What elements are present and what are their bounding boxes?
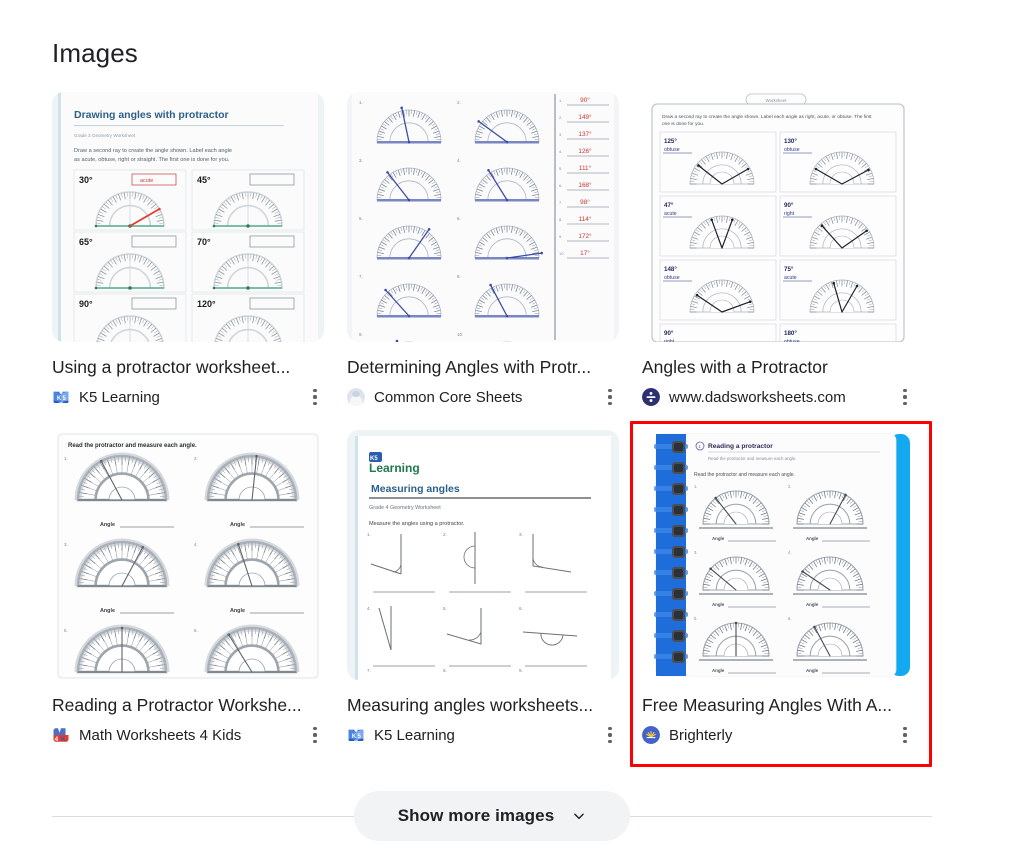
- svg-text:4.: 4.: [457, 158, 461, 163]
- svg-text:168°: 168°: [578, 181, 592, 189]
- svg-text:Angle: Angle: [100, 608, 115, 614]
- image-source-name: Brighterly: [669, 727, 890, 744]
- svg-text:Read the protractor and measur: Read the protractor and measure each ang…: [708, 456, 797, 461]
- more-options-icon[interactable]: [306, 724, 324, 746]
- image-result-card[interactable]: Drawing angles with protractorGrade 3 Ge…: [52, 92, 324, 408]
- svg-text:3.: 3.: [64, 542, 68, 547]
- show-more-label: Show more images: [398, 806, 555, 826]
- svg-text:Grade 3 Geometry Worksheet: Grade 3 Geometry Worksheet: [74, 133, 136, 138]
- image-thumbnail[interactable]: 1. 2. 3. 4. 5. 6. 7. 8. 9. 10. 1.90°2.14…: [347, 92, 619, 342]
- image-source-row: www.dadsworksheets.com: [642, 386, 914, 408]
- svg-text:Angle: Angle: [100, 522, 115, 528]
- svg-text:5.: 5.: [694, 616, 698, 621]
- svg-text:4: 4: [55, 736, 59, 743]
- svg-text:47°: 47°: [664, 202, 674, 209]
- svg-text:7.: 7.: [359, 274, 363, 279]
- dads-worksheets-divide-icon: [642, 388, 660, 406]
- image-result-card[interactable]: Read the protractor and measure each ang…: [52, 430, 324, 746]
- svg-text:4.: 4.: [367, 606, 371, 611]
- svg-text:70°: 70°: [197, 237, 211, 247]
- svg-text:90°: 90°: [664, 330, 674, 337]
- svg-text:2.: 2.: [194, 456, 198, 461]
- image-source-name: Common Core Sheets: [374, 389, 595, 406]
- svg-text:98°: 98°: [580, 198, 590, 206]
- image-source-name: Math Worksheets 4 Kids: [79, 727, 300, 744]
- image-thumbnail[interactable]: WorksheetDraw a second ray to create the…: [642, 92, 914, 342]
- svg-text:2.: 2.: [559, 115, 562, 120]
- svg-text:90°: 90°: [79, 299, 93, 309]
- svg-text:180°: 180°: [784, 330, 797, 337]
- svg-text:149°: 149°: [578, 113, 592, 121]
- image-source-row: K 5 K5 Learning: [347, 724, 619, 746]
- image-source-name: www.dadsworksheets.com: [669, 389, 890, 406]
- image-results-grid: Drawing angles with protractorGrade 3 Ge…: [52, 92, 932, 746]
- svg-text:2.: 2.: [788, 484, 792, 489]
- svg-text:30°: 30°: [79, 175, 93, 185]
- svg-text:Draw a second ray to create th: Draw a second ray to create the angle sh…: [662, 114, 872, 120]
- svg-text:Angle: Angle: [712, 668, 725, 673]
- svg-text:3.: 3.: [359, 158, 363, 163]
- svg-text:90°: 90°: [784, 202, 794, 209]
- image-source-row: K 5 K5 Learning: [52, 386, 324, 408]
- image-source-row: Common Core Sheets: [347, 386, 619, 408]
- svg-text:Reading a protractor: Reading a protractor: [708, 443, 773, 450]
- more-options-icon[interactable]: [601, 724, 619, 746]
- svg-text:Grade 4 Geometry Worksheet: Grade 4 Geometry Worksheet: [369, 505, 441, 511]
- svg-text:Worksheet: Worksheet: [766, 98, 788, 103]
- svg-text:7.: 7.: [559, 200, 562, 205]
- image-source-name: K5 Learning: [79, 389, 300, 406]
- svg-text:acute: acute: [784, 275, 797, 281]
- svg-text:17°: 17°: [580, 249, 590, 257]
- svg-text:Angle: Angle: [806, 602, 819, 607]
- svg-text:2.: 2.: [457, 100, 461, 105]
- svg-text:acute: acute: [140, 178, 153, 184]
- svg-text:10.: 10.: [559, 251, 565, 256]
- page-title: Images: [52, 36, 138, 70]
- more-options-icon[interactable]: [896, 386, 914, 408]
- svg-text:Angle: Angle: [230, 522, 245, 528]
- svg-text:114°: 114°: [579, 215, 592, 223]
- svg-text:1.: 1.: [359, 100, 363, 105]
- image-thumbnail[interactable]: 1Reading a protractorRead the protractor…: [642, 430, 914, 680]
- common-core-sheets-icon: [347, 388, 365, 406]
- svg-text:4.: 4.: [194, 542, 198, 547]
- svg-text:120°: 120°: [197, 299, 216, 309]
- svg-text:3.: 3.: [559, 132, 562, 137]
- image-title: Determining Angles with Protr...: [347, 355, 619, 379]
- svg-text:1.: 1.: [559, 98, 562, 103]
- svg-text:8.: 8.: [457, 274, 461, 279]
- svg-text:Measuring angles: Measuring angles: [371, 483, 460, 495]
- image-result-card[interactable]: 1Reading a protractorRead the protractor…: [642, 430, 914, 746]
- svg-text:Angle: Angle: [712, 602, 725, 607]
- svg-text:1.: 1.: [694, 484, 698, 489]
- svg-text:172°: 172°: [578, 232, 592, 240]
- svg-text:126°: 126°: [578, 147, 592, 155]
- svg-text:Read the protractor and measur: Read the protractor and measure each ang…: [694, 472, 795, 478]
- svg-text:Angle: Angle: [230, 608, 245, 614]
- svg-text:obtuse: obtuse: [784, 339, 800, 342]
- svg-text:K: K: [57, 396, 62, 402]
- svg-text:4.: 4.: [788, 550, 792, 555]
- svg-text:Read the protractor and measur: Read the protractor and measure each ang…: [68, 443, 197, 449]
- image-source-row: Brighterly: [642, 724, 914, 746]
- brighterly-sun-icon: [642, 726, 660, 744]
- image-result-card[interactable]: 1. 2. 3. 4. 5. 6. 7. 8. 9. 10. 1.90°2.14…: [347, 92, 619, 408]
- svg-text:obtuse: obtuse: [784, 147, 800, 153]
- image-source-name: K5 Learning: [374, 727, 595, 744]
- svg-text:5.: 5.: [443, 606, 447, 611]
- show-more-images-button[interactable]: Show more images: [354, 791, 631, 841]
- svg-text:75°: 75°: [784, 266, 794, 273]
- image-result-card[interactable]: WorksheetDraw a second ray to create the…: [642, 92, 914, 408]
- svg-text:8.: 8.: [559, 217, 562, 222]
- svg-text:1.: 1.: [64, 456, 68, 461]
- svg-text:7.: 7.: [367, 668, 371, 673]
- svg-text:right: right: [664, 339, 675, 342]
- svg-text:6.: 6.: [194, 628, 198, 633]
- svg-text:Learning: Learning: [369, 461, 420, 475]
- image-title: Reading a Protractor Workshe...: [52, 693, 324, 717]
- image-source-row: 4 K Math Worksheets 4 Kids: [52, 724, 324, 746]
- svg-text:6.: 6.: [788, 616, 792, 621]
- svg-text:one is done for you.: one is done for you.: [662, 121, 704, 127]
- k5-learning-book-icon: K 5: [347, 726, 365, 744]
- more-options-icon[interactable]: [306, 386, 324, 408]
- svg-text:1: 1: [698, 444, 701, 449]
- svg-text:1.: 1.: [367, 532, 371, 537]
- svg-text:Measure the angles using a pro: Measure the angles using a protractor.: [369, 521, 465, 527]
- svg-text:K: K: [61, 736, 66, 743]
- svg-text:137°: 137°: [578, 130, 592, 138]
- svg-text:10.: 10.: [457, 332, 463, 337]
- svg-text:right: right: [784, 211, 795, 217]
- svg-text:Draw a second ray to create th: Draw a second ray to create the angle sh…: [74, 148, 232, 154]
- image-results-page: Images Drawing angles with protractorGra…: [0, 0, 1024, 845]
- svg-text:125°: 125°: [664, 138, 677, 145]
- svg-text:obtuse: obtuse: [664, 275, 680, 281]
- svg-text:Angle: Angle: [806, 536, 819, 541]
- image-title: Free Measuring Angles With A...: [642, 693, 914, 717]
- more-options-icon[interactable]: [601, 386, 619, 408]
- image-title: Using a protractor worksheet...: [52, 355, 324, 379]
- svg-text:3.: 3.: [694, 550, 698, 555]
- svg-text:5.: 5.: [359, 216, 363, 221]
- image-thumbnail[interactable]: Drawing angles with protractorGrade 3 Ge…: [52, 92, 324, 342]
- svg-text:45°: 45°: [197, 175, 211, 185]
- svg-text:acute: acute: [664, 211, 677, 217]
- k5-learning-book-icon: K 5: [52, 388, 70, 406]
- svg-text:3.: 3.: [519, 532, 523, 537]
- svg-text:6.: 6.: [559, 183, 562, 188]
- svg-text:9.: 9.: [359, 332, 363, 337]
- svg-text:65°: 65°: [79, 237, 93, 247]
- image-thumbnail[interactable]: K5LearningMeasuring anglesGrade 4 Geomet…: [347, 430, 619, 680]
- chevron-down-icon: [572, 809, 586, 823]
- math-worksheets-4-kids-icon: 4 K: [52, 726, 70, 744]
- image-result-card[interactable]: K5LearningMeasuring anglesGrade 4 Geomet…: [347, 430, 619, 746]
- svg-text:Angle: Angle: [806, 668, 819, 673]
- image-title: Measuring angles worksheets...: [347, 693, 619, 717]
- svg-text:2.: 2.: [443, 532, 447, 537]
- svg-text:90°: 90°: [580, 96, 590, 104]
- svg-text:as acute, obtuse, right or str: as acute, obtuse, right or straight. The…: [74, 157, 230, 163]
- svg-text:6.: 6.: [457, 216, 461, 221]
- show-more-section: Show more images: [52, 790, 932, 842]
- svg-text:4.: 4.: [559, 149, 562, 154]
- svg-text:8.: 8.: [443, 668, 447, 673]
- image-title: Angles with a Protractor: [642, 355, 914, 379]
- more-options-icon[interactable]: [896, 724, 914, 746]
- image-thumbnail[interactable]: Read the protractor and measure each ang…: [52, 430, 324, 680]
- svg-text:9.: 9.: [559, 234, 562, 239]
- svg-text:111°: 111°: [579, 164, 592, 172]
- svg-text:9.: 9.: [519, 668, 523, 673]
- svg-text:5.: 5.: [559, 166, 562, 171]
- svg-text:Drawing angles with protractor: Drawing angles with protractor: [74, 109, 229, 121]
- svg-text:obtuse: obtuse: [664, 147, 680, 153]
- svg-text:Angle: Angle: [712, 536, 725, 541]
- svg-text:148°: 148°: [664, 266, 677, 273]
- svg-text:130°: 130°: [784, 138, 797, 145]
- svg-text:K: K: [352, 734, 357, 740]
- svg-text:5.: 5.: [64, 628, 68, 633]
- svg-text:6.: 6.: [519, 606, 523, 611]
